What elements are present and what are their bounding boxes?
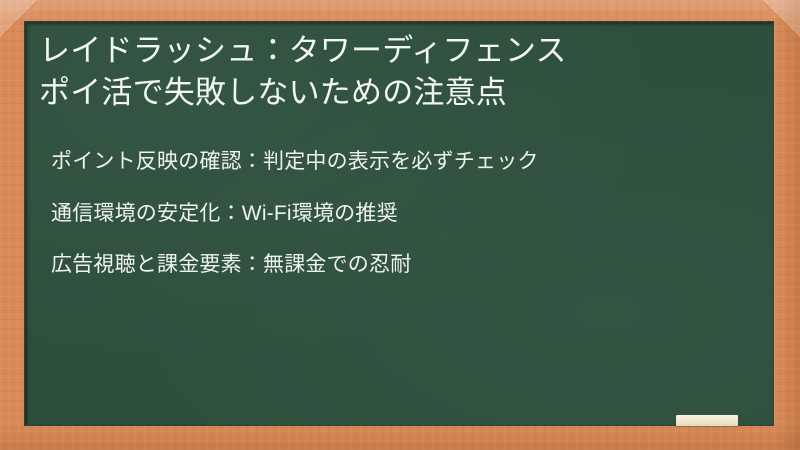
- slide-title: レイドラッシュ：タワーディフェンス ポイ活で失敗しないための注意点: [39, 30, 763, 115]
- chalk-stick: [676, 415, 738, 426]
- frame-bottom-shadow: [0, 424, 800, 450]
- chalkboard-surface: レイドラッシュ：タワーディフェンス ポイ活で失敗しないための注意点 ポイント反映…: [25, 22, 773, 425]
- key-point-item: ポイント反映の確認：判定中の表示を必ずチェック: [51, 146, 755, 178]
- chalkboard-slide: レイドラッシュ：タワーディフェンス ポイ活で失敗しないための注意点 ポイント反映…: [0, 0, 800, 450]
- frame-top-highlight: [0, 0, 800, 22]
- frame-right-shadow: [776, 0, 800, 450]
- key-points-list: ポイント反映の確認：判定中の表示を必ずチェック 通信環境の安定化：Wi-Fi環境…: [51, 146, 755, 281]
- key-point-item: 通信環境の安定化：Wi-Fi環境の推奨: [51, 198, 755, 230]
- key-point-item: 広告視聴と課金要素：無課金での忍耐: [51, 249, 755, 281]
